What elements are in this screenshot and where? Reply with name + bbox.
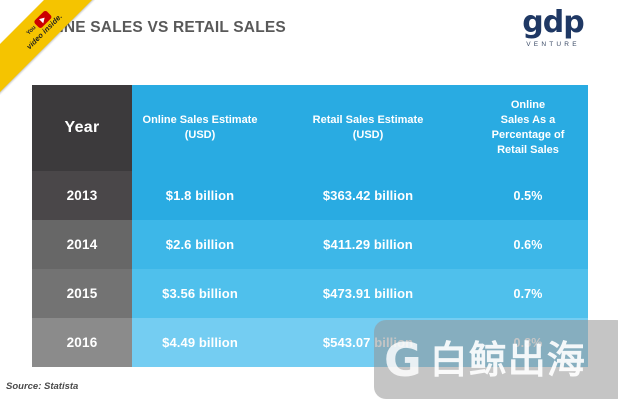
ribbon-band: You video inside. bbox=[0, 0, 95, 94]
cell-retail-sales: $543.07 billion bbox=[268, 318, 468, 367]
sales-comparison-table: Year Online Sales Estimate (USD) Retail … bbox=[32, 85, 588, 367]
cell-percentage: 0.7% bbox=[468, 269, 588, 318]
cell-year: 2016 bbox=[32, 318, 132, 367]
column-header-year: Year bbox=[32, 85, 132, 171]
column-header-online-line2: (USD) bbox=[140, 128, 260, 143]
column-header-percentage: Online Sales As a Percentage of Retail S… bbox=[468, 85, 588, 171]
table-row: 2014 $2.6 billion $411.29 billion 0.6% bbox=[32, 220, 588, 269]
column-header-online-sales: Online Sales Estimate (USD) bbox=[132, 85, 268, 171]
slide-canvas: You video inside. ONLINE SALES VS RETAIL… bbox=[0, 0, 618, 408]
cell-online-sales: $2.6 billion bbox=[132, 220, 268, 269]
table-row: 2016 $4.49 billion $543.07 billion 0.8% bbox=[32, 318, 588, 367]
youtube-corner-ribbon: You video inside. bbox=[0, 0, 95, 95]
cell-online-sales: $1.8 billion bbox=[132, 171, 268, 220]
logo-subtitle: VENTURE bbox=[510, 41, 596, 48]
cell-online-sales: $3.56 billion bbox=[132, 269, 268, 318]
table-row: 2013 $1.8 billion $363.42 billion 0.5% bbox=[32, 171, 588, 220]
cell-percentage: 0.5% bbox=[468, 171, 588, 220]
logo-wordmark: gdp bbox=[510, 8, 596, 38]
cell-online-sales: $4.49 billion bbox=[132, 318, 268, 367]
column-header-percentage-line3: Percentage of bbox=[476, 128, 580, 143]
cell-retail-sales: $363.42 billion bbox=[268, 171, 468, 220]
column-header-online-line1: Online Sales Estimate bbox=[140, 113, 260, 128]
table-row: 2015 $3.56 billion $473.91 billion 0.7% bbox=[32, 269, 588, 318]
cell-retail-sales: $411.29 billion bbox=[268, 220, 468, 269]
cell-year: 2013 bbox=[32, 171, 132, 220]
column-header-retail-line2: (USD) bbox=[276, 128, 460, 143]
cell-percentage: 0.8% bbox=[468, 318, 588, 367]
cell-percentage: 0.6% bbox=[468, 220, 588, 269]
cell-year: 2014 bbox=[32, 220, 132, 269]
gdp-venture-logo: gdp VENTURE bbox=[510, 8, 596, 48]
table-header-row: Year Online Sales Estimate (USD) Retail … bbox=[32, 85, 588, 171]
column-header-percentage-line4: Retail Sales bbox=[476, 143, 580, 158]
cell-retail-sales: $473.91 billion bbox=[268, 269, 468, 318]
cell-year: 2015 bbox=[32, 269, 132, 318]
column-header-percentage-line2: Sales As a bbox=[476, 113, 580, 128]
source-note: Source: Statista bbox=[6, 381, 78, 392]
column-header-retail-sales: Retail Sales Estimate (USD) bbox=[268, 85, 468, 171]
column-header-percentage-line1: Online bbox=[476, 98, 580, 113]
column-header-retail-line1: Retail Sales Estimate bbox=[276, 113, 460, 128]
page-title: ONLINE SALES VS RETAIL SALES bbox=[26, 19, 286, 37]
